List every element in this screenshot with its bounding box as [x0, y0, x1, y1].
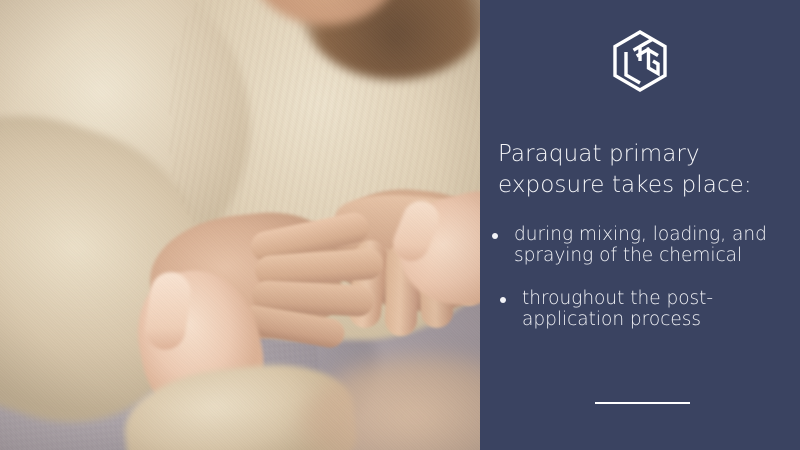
slide-canvas: Paraquat primary exposure takes place: d… — [0, 0, 800, 450]
page-title: Paraquat primary exposure takes place: — [498, 139, 788, 200]
list-item: during mixing, loading, and spraying of … — [492, 224, 792, 266]
bullet-dot-icon — [492, 233, 498, 239]
content-panel: Paraquat primary exposure takes place: d… — [480, 0, 800, 450]
bullet-dot-icon — [500, 297, 506, 303]
photo-hands-elderly-care — [0, 0, 480, 450]
list-item-label: during mixing, loading, and spraying of … — [514, 224, 792, 266]
isometric-cube-logo-icon — [612, 30, 668, 96]
brand-logo — [480, 30, 800, 96]
list-item: throughout the post-application process — [492, 288, 792, 330]
exposure-bullet-list: during mixing, loading, and spraying of … — [492, 224, 792, 330]
divider — [595, 402, 690, 404]
list-item-label: throughout the post-application process — [522, 288, 792, 330]
